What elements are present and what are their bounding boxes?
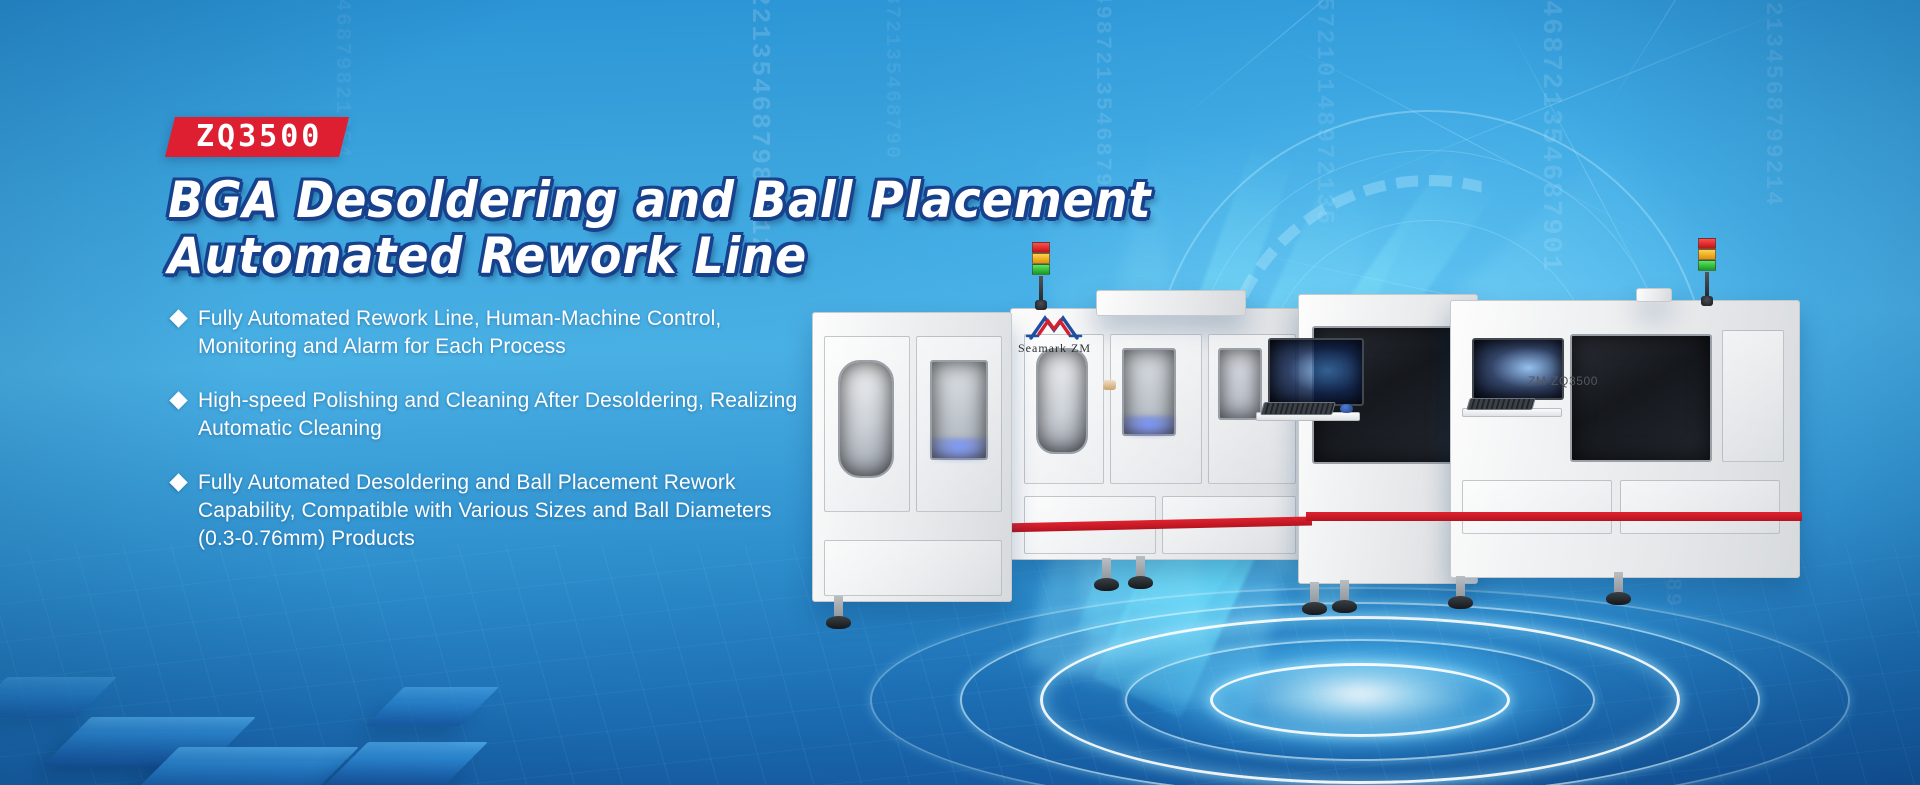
- feature-text: High-speed Polishing and Cleaning After …: [198, 387, 812, 443]
- cabinet-panel: [1620, 480, 1780, 534]
- model-badge: ZQ3500: [165, 117, 349, 157]
- mouse: [1340, 404, 1353, 413]
- cabinet-panel: [1462, 480, 1612, 534]
- feature-text: Fully Automated Desoldering and Ball Pla…: [198, 469, 812, 553]
- monitor-center: [1268, 338, 1364, 406]
- signal-lamp-red: [1698, 238, 1716, 249]
- red-accent-stripe: [1306, 512, 1802, 521]
- keyboard: [1466, 398, 1535, 410]
- machine-foot: [1136, 556, 1145, 580]
- machine-cabinet-left-top: [1096, 290, 1246, 316]
- network-line: [1180, 0, 1410, 121]
- signal-tower-base: [1701, 296, 1713, 306]
- machine-brandmark: Seamark ZM: [1018, 314, 1091, 356]
- machine-foot: [1102, 558, 1111, 582]
- machine-foot: [1456, 576, 1465, 600]
- signal-tower-pole: [1705, 272, 1709, 298]
- text-content: ZQ3500 BGA Desoldering and Ball Placemen…: [0, 0, 980, 785]
- brand-name-text: Seamark ZM: [1018, 341, 1091, 356]
- machine-foot: [1340, 580, 1349, 604]
- monitor-screen: [1268, 338, 1364, 406]
- digit-stream: 102134568799214: [1760, 0, 1786, 207]
- network-line: [1280, 40, 1651, 238]
- diamond-bullet-icon: [169, 391, 187, 409]
- list-item: Fully Automated Rework Line, Human-Machi…: [172, 305, 812, 361]
- diamond-bullet-icon: [169, 309, 187, 327]
- machine-illustration: Seamark ZM ZM-ZQ3500: [1010, 290, 1800, 680]
- headline-line-2: Automated Rework Line: [168, 228, 1051, 284]
- product-banner: 221354687984512 014987213546879 35721014…: [0, 0, 1920, 785]
- inspection-window: [1570, 334, 1712, 462]
- machine-cabinet-right-top: [1636, 288, 1672, 302]
- machine-model-label: ZM-ZQ3500: [1528, 374, 1598, 388]
- headline-line-1: BGA Desoldering and Ball Placement: [168, 172, 1051, 228]
- digit-stream: 357210148972135: [1310, 0, 1337, 226]
- signal-tower-base: [1035, 300, 1047, 310]
- seamark-logo-icon: [1025, 314, 1083, 340]
- feature-text: Fully Automated Rework Line, Human-Machi…: [198, 305, 812, 361]
- list-item: Fully Automated Desoldering and Ball Pla…: [172, 469, 812, 553]
- machine-foot: [1310, 582, 1319, 606]
- signal-lamp-green: [1698, 260, 1716, 271]
- list-item: High-speed Polishing and Cleaning After …: [172, 387, 812, 443]
- cabinet-panel: [1722, 330, 1784, 462]
- cabinet-viewport: [1218, 348, 1262, 420]
- page-title: BGA Desoldering and Ball Placement Autom…: [168, 172, 1128, 284]
- digit-stream: 468721354687901: [1535, 0, 1565, 273]
- model-badge-text: ZQ3500: [196, 122, 322, 152]
- feature-list: Fully Automated Rework Line, Human-Machi…: [172, 305, 812, 579]
- monitor-screen: [1472, 338, 1564, 400]
- monitor-right: [1472, 338, 1564, 400]
- network-line: [1340, 0, 1823, 191]
- uv-glow: [1124, 416, 1174, 436]
- keyboard: [1260, 402, 1336, 415]
- emergency-stop-button: [1103, 380, 1116, 390]
- machine-foot: [1614, 572, 1623, 596]
- signal-lamp-amber: [1698, 249, 1716, 260]
- network-line: [1600, 0, 1776, 121]
- cabinet-viewport: [1036, 348, 1088, 454]
- digit-stream: 014987213546879: [1090, 0, 1115, 188]
- diamond-bullet-icon: [169, 473, 187, 491]
